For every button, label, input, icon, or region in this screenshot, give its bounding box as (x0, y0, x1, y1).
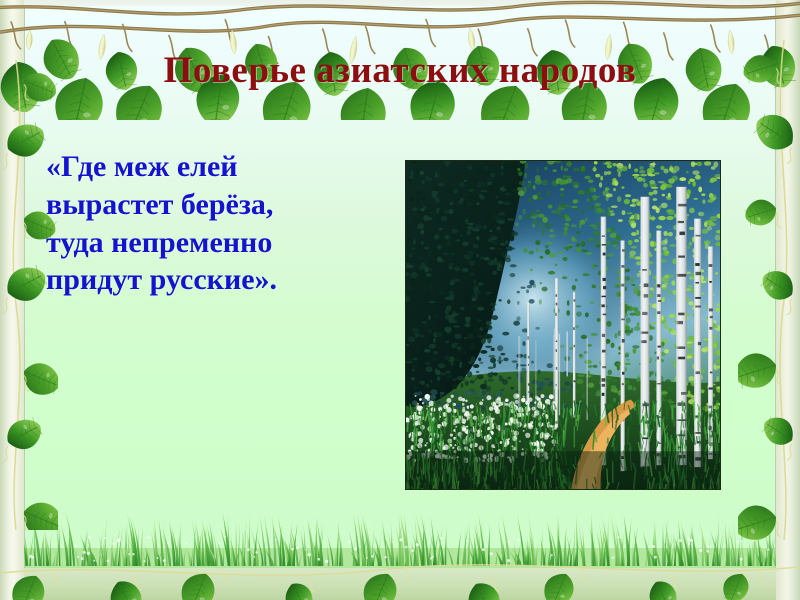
frame-right-panel (776, 0, 800, 600)
quote-text: «Где меж елей вырастет берёза, туда непр… (46, 148, 386, 299)
slide: Поверье азиатских народов «Где меж елей … (0, 0, 800, 600)
birch-grove-painting (405, 160, 721, 490)
page-title: Поверье азиатских народов (40, 52, 760, 91)
quote-line-2: вырастет берёза, (46, 186, 386, 224)
quote-line-4: придут русские». (46, 261, 386, 299)
quote-line-1: «Где меж елей (46, 148, 386, 186)
quote-line-3: туда непременно (46, 224, 386, 262)
painting-canvas (406, 161, 720, 489)
frame-left-panel (0, 0, 24, 600)
frame-bottom-panel (0, 568, 800, 600)
